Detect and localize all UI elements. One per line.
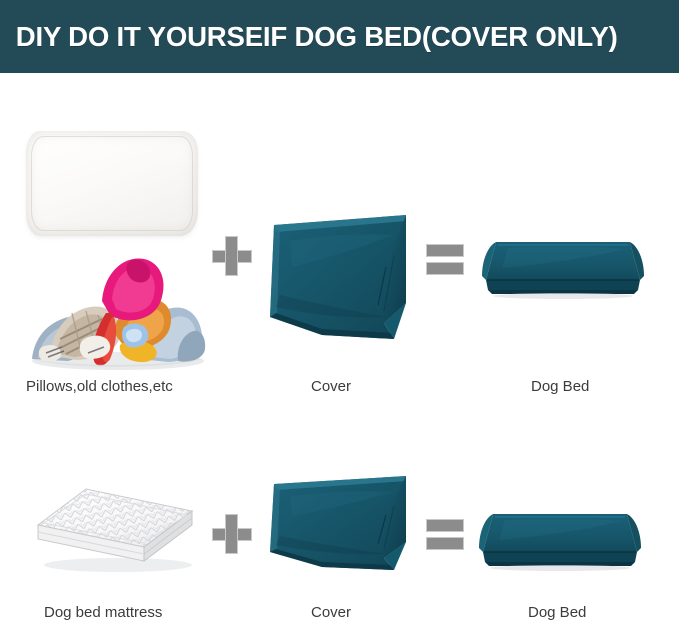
header-banner: DIY DO IT YOURSEIF DOG BED(COVER ONLY) <box>0 0 679 73</box>
dog-bed-icon <box>479 508 641 580</box>
plus-icon <box>213 515 251 553</box>
equals-icon <box>427 245 463 274</box>
diy-row-mattress: Dog bed mattress <box>0 440 679 626</box>
caption-mattress: Dog bed mattress <box>44 604 162 621</box>
cover-icon <box>266 470 414 598</box>
caption-pillows: Pillows,old clothes,etc <box>26 378 173 395</box>
pillow-icon <box>26 131 198 236</box>
mattress-icon <box>32 485 200 575</box>
caption-cover: Cover <box>311 604 351 621</box>
equals-icon <box>427 520 463 549</box>
plus-icon <box>213 237 251 275</box>
page-title: DIY DO IT YOURSEIF DOG BED(COVER ONLY) <box>0 21 618 53</box>
caption-dog-bed: Dog Bed <box>528 604 586 621</box>
diy-row-pillows: Pillows,old clothes,etc <box>0 73 679 403</box>
cover-icon <box>266 207 414 379</box>
caption-dog-bed: Dog Bed <box>531 378 589 395</box>
dog-bed-icon <box>482 236 644 308</box>
clothes-pile-icon <box>28 243 208 371</box>
caption-cover: Cover <box>311 378 351 395</box>
